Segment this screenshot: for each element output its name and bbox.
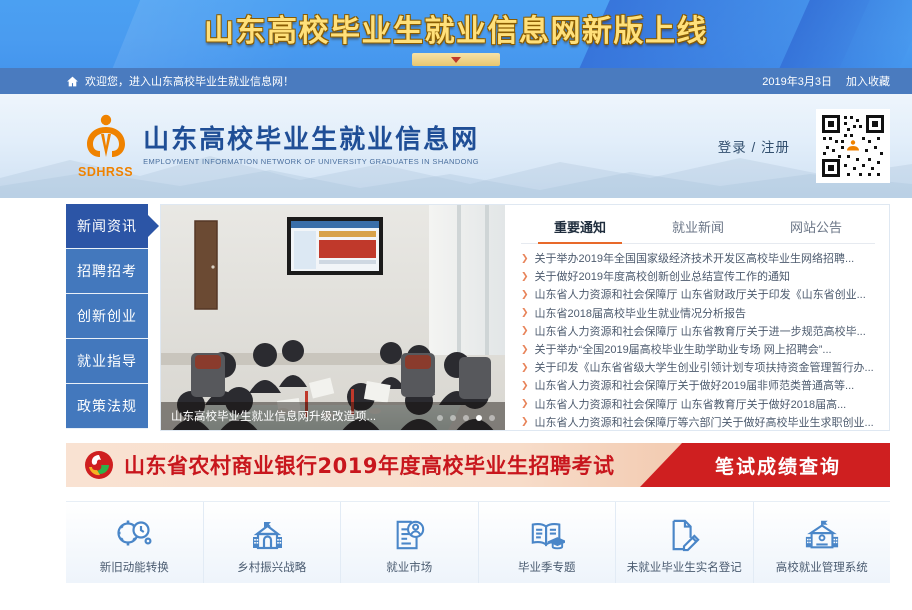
news-item-text: 山东省人力资源和社会保障厅 山东省教育厅关于进一步规范高校毕... — [535, 323, 866, 339]
site-name-en: EMPLOYMENT INFORMATION NETWORK OF UNIVER… — [143, 157, 479, 166]
list-item[interactable]: ❯山东省人力资源和社会保障厅等六部门关于做好高校毕业生求职创业... — [521, 413, 875, 431]
news-list: ❯关于举办2019年全国国家级经济技术开发区高校毕业生网络招聘... ❯关于做好… — [521, 249, 875, 431]
news-column: 重要通知 就业新闻 网站公告 ❯关于举办2019年全国国家级经济技术开发区高校毕… — [505, 205, 889, 430]
logo-abbr: SDHRSS — [78, 165, 133, 179]
news-item-text: 山东省人力资源和社会保障厅等六部门关于做好高校毕业生求职创业... — [535, 414, 874, 430]
quick-link-label: 新旧动能转换 — [100, 559, 169, 575]
score-query-label: 笔试成绩查询 — [715, 452, 841, 479]
quick-links-row: 新旧动能转换 — [66, 501, 890, 583]
chevron-right-icon: ❯ — [521, 271, 529, 282]
site-logo[interactable]: SDHRSS 山东高校毕业生就业信息网 EMPLOYMENT INFORMATI… — [78, 113, 479, 179]
promo-banner[interactable]: 山东高校毕业生就业信息网新版上线 — [0, 0, 912, 68]
sidebar-item-guidance[interactable]: 就业指导 — [66, 339, 148, 384]
quick-link-rural-revival[interactable]: 乡村振兴战略 — [204, 502, 342, 583]
sidebar-item-label: 招聘招考 — [77, 261, 137, 281]
sidebar-item-policy[interactable]: 政策法规 — [66, 384, 148, 429]
promo-title: 山东高校毕业生就业信息网新版上线 — [0, 6, 912, 50]
sidebar-item-label: 新闻资讯 — [77, 216, 137, 236]
content-row: 新闻资讯 招聘招考 创新创业 就业指导 政策法规 — [66, 204, 890, 431]
content-panel: 山东高校毕业生就业信息网升级改造项... 重要通知 — [160, 204, 890, 431]
tab-label: 就业新闻 — [672, 221, 724, 236]
sidebar-item-label: 政策法规 — [77, 396, 137, 416]
list-item[interactable]: ❯山东省人力资源和社会保障厅 山东省教育厅关于做好2018届高... — [521, 395, 875, 413]
carousel-dot-active[interactable] — [476, 415, 482, 421]
sidebar-nav: 新闻资讯 招聘招考 创新创业 就业指导 政策法规 — [66, 204, 148, 429]
carousel-dot[interactable] — [463, 415, 469, 421]
chevron-right-icon: ❯ — [521, 325, 529, 336]
chevron-right-icon: ❯ — [521, 416, 529, 427]
document-person-icon — [392, 517, 426, 553]
welcome-right: 2019年3月3日 加入收藏 — [762, 73, 890, 89]
bank-banner-left: 山东省农村商业银行2019年度高校毕业生招聘考试 — [66, 450, 614, 480]
carousel-dots[interactable] — [437, 415, 495, 421]
quick-link-label: 毕业季专题 — [518, 559, 576, 575]
quick-link-graduation-topic[interactable]: 毕业季专题 — [479, 502, 617, 583]
carousel-photo — [161, 205, 505, 430]
quick-link-management-system[interactable]: 高校就业管理系统 — [754, 502, 891, 583]
qr-code-icon[interactable] — [816, 109, 890, 183]
news-tabs: 重要通知 就业新闻 网站公告 — [521, 217, 875, 244]
news-item-text: 山东省人力资源和社会保障厅 山东省教育厅关于做好2018届高... — [535, 396, 847, 412]
home-icon — [66, 75, 79, 88]
list-item[interactable]: ❯关于举办“全国2019届高校毕业生助学助业专场 网上招聘会”... — [521, 340, 875, 358]
header-right: 登录 / 注册 — [718, 109, 890, 183]
bank-banner-title: 山东省农村商业银行2019年度高校毕业生招聘考试 — [124, 450, 614, 480]
current-date: 2019年3月3日 — [762, 73, 832, 89]
carousel-dot[interactable] — [489, 415, 495, 421]
page-root: 山东高校毕业生就业信息网新版上线 欢迎您，进入山东高校毕业生就业信息网！ 201… — [0, 0, 912, 610]
carousel-dot[interactable] — [450, 415, 456, 421]
list-item[interactable]: ❯关于举办2019年全国国家级经济技术开发区高校毕业生网络招聘... — [521, 249, 875, 267]
list-item[interactable]: ❯关于做好2019年度高校创新创业总结宣传工作的通知 — [521, 267, 875, 285]
news-carousel[interactable]: 山东高校毕业生就业信息网升级改造项... — [161, 205, 505, 430]
sdhrss-logo-icon — [80, 113, 132, 167]
tab-site-announcement[interactable]: 网站公告 — [757, 217, 875, 243]
welcome-bar: 欢迎您，进入山东高校毕业生就业信息网！ 2019年3月3日 加入收藏 — [0, 68, 912, 94]
list-item[interactable]: ❯山东省人力资源和社会保障厅 山东省教育厅关于进一步规范高校毕... — [521, 322, 875, 340]
quick-link-label: 乡村振兴战略 — [237, 559, 306, 575]
site-name-cn: 山东高校毕业生就业信息网 — [143, 126, 479, 155]
sidebar-item-label: 创新创业 — [77, 306, 137, 326]
gear-clock-icon — [114, 517, 154, 553]
sidebar-item-innovation[interactable]: 创新创业 — [66, 294, 148, 339]
quick-link-label: 高校就业管理系统 — [776, 559, 868, 575]
promo-collapse-tab[interactable] — [412, 53, 500, 66]
news-item-text: 山东省人力资源和社会保障厅 山东省财政厅关于印发《山东省创业... — [535, 286, 866, 302]
tab-label: 网站公告 — [790, 221, 842, 236]
university-building-icon — [804, 517, 840, 553]
caret-down-icon — [451, 57, 461, 63]
chevron-right-icon: ❯ — [521, 344, 529, 355]
list-item[interactable]: ❯山东省2018届高校毕业生就业情况分析报告 — [521, 304, 875, 322]
chevron-right-icon: ❯ — [521, 380, 529, 391]
list-item[interactable]: ❯山东省人力资源和社会保障厅关于做好2019届非师范类普通高等... — [521, 376, 875, 394]
carousel-dot[interactable] — [437, 415, 443, 421]
tab-employment-news[interactable]: 就业新闻 — [639, 217, 757, 243]
chevron-right-icon: ❯ — [521, 253, 529, 264]
document-pencil-icon — [668, 517, 700, 553]
news-item-text: 关于做好2019年度高校创新创业总结宣传工作的通知 — [535, 268, 790, 284]
quick-link-job-market[interactable]: 就业市场 — [341, 502, 479, 583]
news-item-text: 关于印发《山东省省级大学生创业引领计划专项扶持资金管理暂行办... — [535, 359, 874, 375]
chevron-right-icon: ❯ — [521, 307, 529, 318]
news-item-text: 关于举办2019年全国国家级经济技术开发区高校毕业生网络招聘... — [535, 250, 855, 266]
school-building-icon — [252, 517, 292, 553]
sidebar-item-news[interactable]: 新闻资讯 — [66, 204, 148, 249]
quick-link-label: 未就业毕业生实名登记 — [627, 559, 742, 575]
bank-logo-icon — [84, 450, 114, 480]
list-item[interactable]: ❯关于印发《山东省省级大学生创业引领计划专项扶持资金管理暂行办... — [521, 358, 875, 376]
site-header: SDHRSS 山东高校毕业生就业信息网 EMPLOYMENT INFORMATI… — [0, 94, 912, 198]
news-item-text: 山东省人力资源和社会保障厅关于做好2019届非师范类普通高等... — [535, 377, 855, 393]
news-item-text: 山东省2018届高校毕业生就业情况分析报告 — [535, 305, 746, 321]
list-item[interactable]: ❯山东省人力资源和社会保障厅 山东省财政厅关于印发《山东省创业... — [521, 285, 875, 303]
login-register-link[interactable]: 登录 / 注册 — [718, 136, 790, 156]
score-query-button[interactable]: 笔试成绩查询 — [640, 443, 890, 487]
chevron-right-icon: ❯ — [521, 398, 529, 409]
tab-label: 重要通知 — [554, 221, 606, 236]
sidebar-item-label: 就业指导 — [77, 351, 137, 371]
main-content: 新闻资讯 招聘招考 创新创业 就业指导 政策法规 — [0, 198, 912, 431]
bank-recruitment-banner[interactable]: 笔试成绩查询 山东省农村商业银行2019年度高校毕业生招聘考试 — [66, 443, 890, 487]
tab-important-notice[interactable]: 重要通知 — [521, 217, 639, 243]
quick-link-label: 就业市场 — [386, 559, 432, 575]
header-inner: SDHRSS 山东高校毕业生就业信息网 EMPLOYMENT INFORMATI… — [0, 94, 912, 198]
add-favorite-link[interactable]: 加入收藏 — [846, 73, 890, 89]
quick-link-unemployed-registration[interactable]: 未就业毕业生实名登记 — [616, 502, 754, 583]
quick-link-new-energy[interactable]: 新旧动能转换 — [66, 502, 204, 583]
chevron-right-icon: ❯ — [521, 289, 529, 300]
news-item-text: 关于举办“全国2019届高校毕业生助学助业专场 网上招聘会”... — [535, 341, 832, 357]
carousel-caption-text: 山东高校毕业生就业信息网升级改造项... — [171, 408, 376, 424]
sidebar-item-recruitment[interactable]: 招聘招考 — [66, 249, 148, 294]
welcome-text: 欢迎您，进入山东高校毕业生就业信息网！ — [85, 73, 294, 89]
chevron-right-icon: ❯ — [521, 362, 529, 373]
welcome-left: 欢迎您，进入山东高校毕业生就业信息网！ — [66, 73, 762, 89]
book-graduation-icon — [529, 517, 565, 553]
